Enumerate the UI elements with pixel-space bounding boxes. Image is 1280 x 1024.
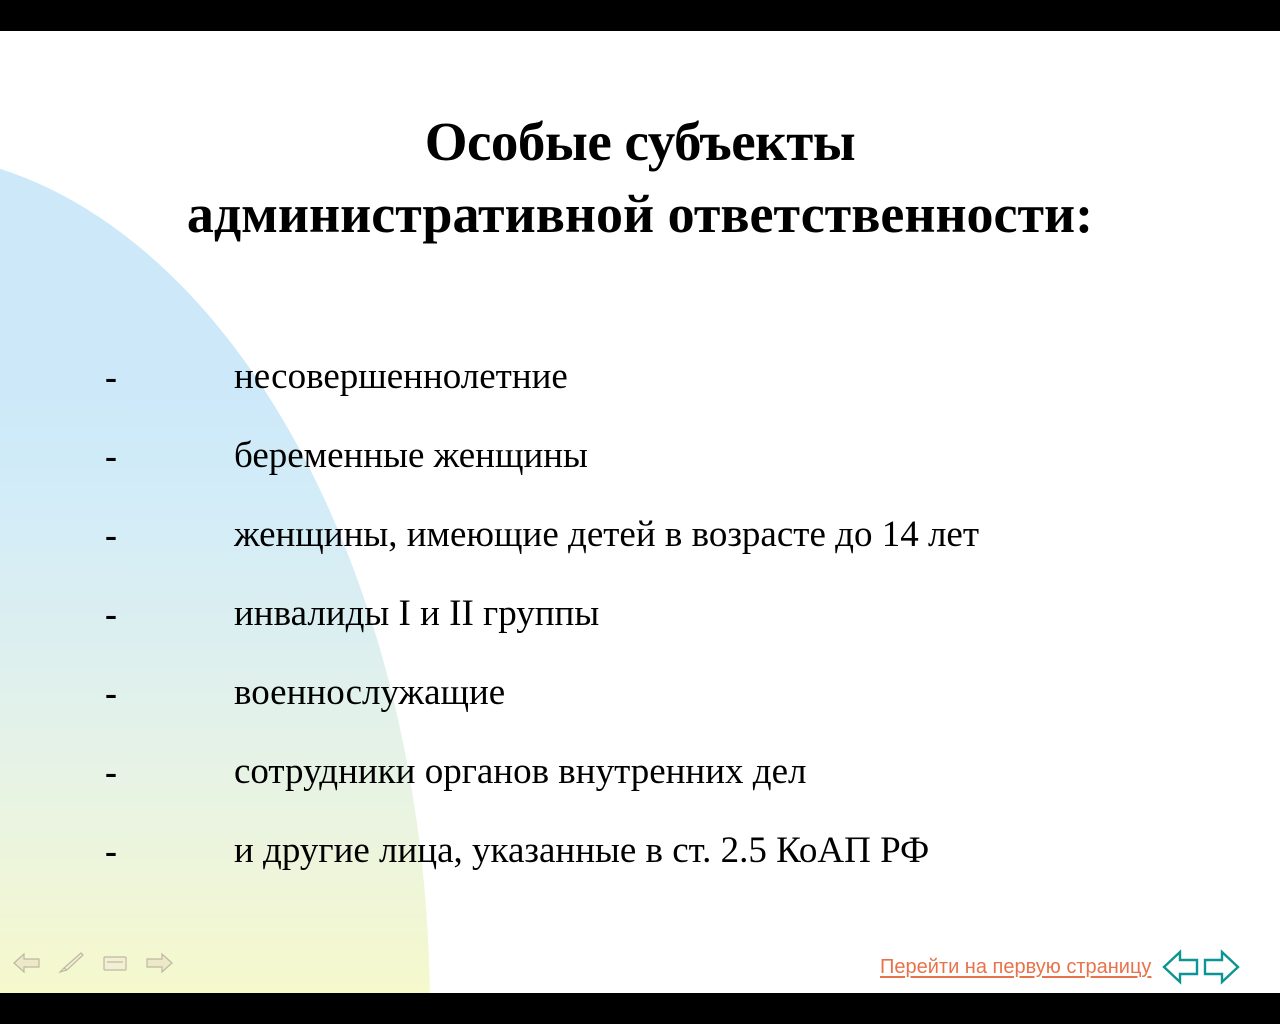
go-to-first-page-link[interactable]: Перейти на первую страницу xyxy=(880,956,1151,979)
bullet-text: женщины, имеющие детей в возрасте до 14 … xyxy=(234,515,979,555)
bullet-marker: - xyxy=(105,359,117,395)
bullet-marker: - xyxy=(105,596,117,632)
note-icon[interactable] xyxy=(100,949,130,977)
list-item: - и другие лица, указанные в ст. 2.5 КоА… xyxy=(0,811,1280,890)
bullet-marker: - xyxy=(105,438,117,474)
pen-icon[interactable] xyxy=(56,949,86,977)
top-letterbox-bar xyxy=(0,0,1280,31)
bullet-marker: - xyxy=(105,754,117,790)
page-title: Особые субъекты административной ответст… xyxy=(60,105,1220,251)
nav-arrows-group xyxy=(1161,947,1241,987)
bullet-marker: - xyxy=(105,833,117,869)
arrow-left-outline-icon[interactable] xyxy=(1164,952,1197,982)
list-item: - сотрудники органов внутренних дел xyxy=(0,732,1280,811)
list-item: - инвалиды I и II группы xyxy=(0,574,1280,653)
bullet-text: несовершеннолетние xyxy=(234,357,568,397)
presentation-slide: Особые субъекты административной ответст… xyxy=(0,0,1280,1024)
presentation-toolbar xyxy=(12,949,174,977)
back-arrow-icon[interactable] xyxy=(12,949,42,977)
arrow-right-outline-icon[interactable] xyxy=(1205,952,1238,982)
bullet-text: сотрудники органов внутренних дел xyxy=(234,752,807,792)
bottom-letterbox-bar xyxy=(0,993,1280,1024)
page-title-line-1: Особые субъекты xyxy=(60,105,1220,178)
list-item: - военнослужащие xyxy=(0,653,1280,732)
bullet-text: военнослужащие xyxy=(234,673,505,713)
slide-canvas: Особые субъекты административной ответст… xyxy=(0,31,1280,993)
nav-arrows-svg xyxy=(1161,947,1241,987)
bullet-marker: - xyxy=(105,675,117,711)
list-item: - беременные женщины xyxy=(0,416,1280,495)
bullet-text: беременные женщины xyxy=(234,436,588,476)
page-title-line-2: административной ответственности: xyxy=(60,178,1220,251)
bullet-text: инвалиды I и II группы xyxy=(234,594,599,634)
bullet-text: и другие лица, указанные в ст. 2.5 КоАП … xyxy=(234,831,929,871)
forward-arrow-icon[interactable] xyxy=(144,949,174,977)
footer-navigation: Перейти на первую страницу xyxy=(880,947,1241,987)
list-item: - несовершеннолетние xyxy=(0,337,1280,416)
bullet-list: - несовершеннолетние - беременные женщин… xyxy=(0,337,1280,890)
list-item: - женщины, имеющие детей в возрасте до 1… xyxy=(0,495,1280,574)
bullet-marker: - xyxy=(105,517,117,553)
